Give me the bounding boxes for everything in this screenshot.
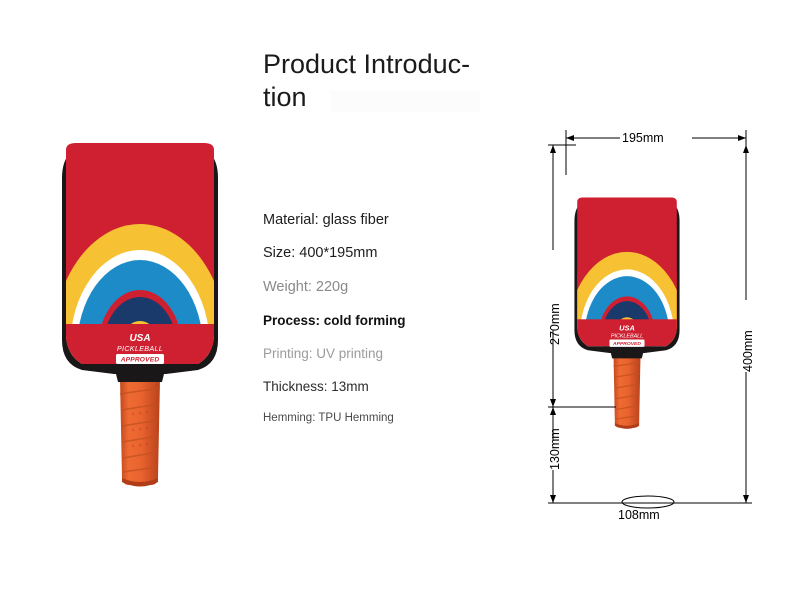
badge-line-usa: USA <box>619 324 635 333</box>
badge-line-approved: APPROVED <box>612 341 641 347</box>
dimension-label-width: 195mm <box>622 131 664 145</box>
spec-item-process: Process: cold forming <box>263 313 463 328</box>
dimension-label-grip-length: 130mm <box>548 428 562 470</box>
badge-line-pickleball: PICKLEBALL <box>117 344 163 353</box>
paddle-grip-right <box>614 356 641 429</box>
dimension-label-total-height: 400mm <box>741 330 755 372</box>
paddle-image-right: USA PICKLEBALL APPROVED <box>565 142 689 502</box>
spec-item-hemming: Hemming: TPU Hemming <box>263 412 463 424</box>
badge-line-approved: APPROVED <box>120 357 160 364</box>
spec-item-size: Size: 400*195mm <box>263 245 463 261</box>
paddle-image-left: USA PICKLEBALL APPROVED <box>48 142 232 514</box>
spec-item-printing: Printing: UV printing <box>263 346 463 361</box>
spec-list: Material: glass fiber Size: 400*195mm We… <box>263 212 463 424</box>
dimension-label-grip-circumference: 108mm <box>618 508 660 522</box>
page-title-line-1: Product Introduc- <box>263 48 503 81</box>
faint-watermark <box>330 90 480 112</box>
badge-line-pickleball: PICKLEBALL <box>611 334 643 340</box>
product-introduction-page: Product Introduc- tion Material: glass f… <box>0 0 790 597</box>
dimension-label-face-height: 270mm <box>548 303 562 345</box>
badge-line-usa: USA <box>129 333 150 344</box>
spec-item-material: Material: glass fiber <box>263 212 463 228</box>
spec-item-thickness: Thickness: 13mm <box>263 379 463 394</box>
spec-item-weight: Weight: 220g <box>263 279 463 295</box>
paddle-grip-left <box>120 378 160 487</box>
